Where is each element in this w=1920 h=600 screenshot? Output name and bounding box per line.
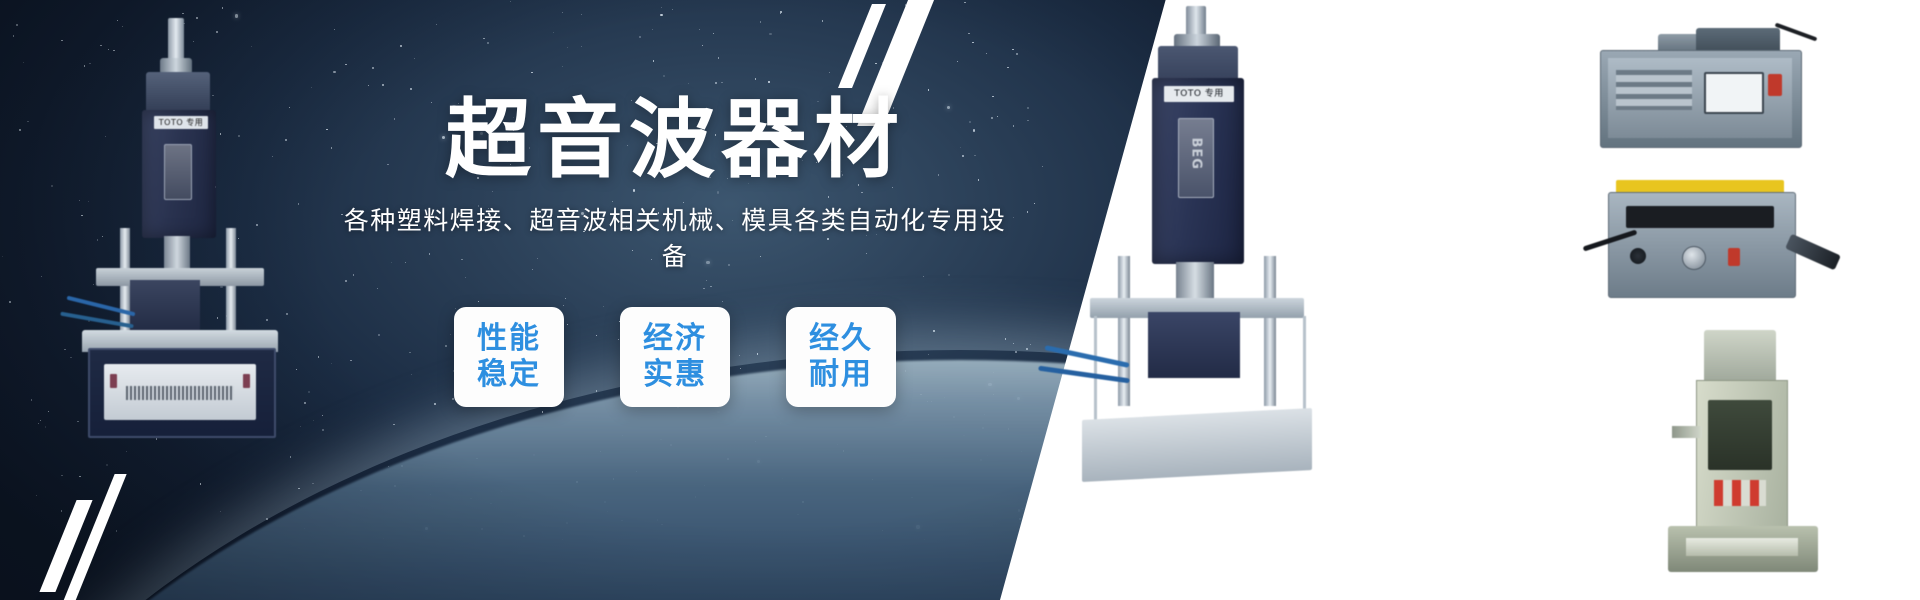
banner-subline: 各种塑料焊接、超音波相关机械、模具各类自动化专用设备 [335, 201, 1015, 273]
welding-unit-product-image [1600, 180, 1830, 320]
unit-jack-port [1630, 248, 1646, 264]
unit-control-knob [1682, 246, 1706, 270]
welder-screen: BEG [1178, 118, 1214, 198]
promo-banner: TOTO 专用 超音波器材 各种塑料焊接、超音波相关机械、模具各类自动化专用设备… [0, 0, 1920, 600]
welder-fixture-box [1148, 312, 1240, 378]
badge-line-2: 耐用 [809, 357, 873, 394]
generator-analog-meter [1704, 72, 1764, 114]
feature-badge-economy[interactable]: 经济 实惠 [620, 307, 730, 407]
machine-indicator-left [110, 374, 117, 388]
tall-machine-product-image [1660, 330, 1840, 600]
machine-fixture-box [130, 280, 200, 332]
tall-machine-buttons [1714, 480, 1766, 506]
machine-indicator-right [243, 374, 250, 388]
generator-product-image [1600, 28, 1820, 158]
generator-power-switch [1768, 74, 1782, 96]
main-welder-product-image: TOTO 专用 BEG [1078, 6, 1318, 506]
tall-machine-arm [1672, 426, 1702, 438]
unit-slot [1626, 206, 1774, 228]
machine-neck [164, 236, 190, 270]
badge-line-1: 经济 [643, 321, 707, 358]
tall-machine-display [1708, 400, 1772, 470]
badge-line-2: 稳定 [477, 357, 541, 394]
badge-line-1: 性能 [477, 321, 541, 358]
generator-terminal-block [1616, 70, 1692, 110]
feature-badge-durability[interactable]: 经久 耐用 [786, 307, 896, 407]
machine-vent-grille [126, 386, 234, 400]
machine-rod [168, 18, 184, 62]
badge-line-1: 经久 [809, 321, 873, 358]
machine-brand-label: TOTO 专用 [154, 116, 208, 129]
welder-base [1082, 408, 1312, 482]
feature-badge-performance[interactable]: 性能 稳定 [454, 307, 564, 407]
machine-screen [164, 144, 192, 200]
unit-red-button [1728, 248, 1740, 266]
welder-brand-label: TOTO 专用 [1164, 86, 1234, 102]
badge-line-2: 实惠 [643, 357, 707, 394]
banner-copy-block: 超音波器材 各种塑料焊接、超音波相关机械、模具各类自动化专用设备 性能 稳定 经… [335, 96, 1015, 407]
banner-headline: 超音波器材 [335, 96, 1015, 185]
tall-machine-plate [1686, 538, 1798, 556]
left-product-machine-image: TOTO 专用 [60, 18, 310, 448]
welder-screen-text: BEG [1189, 138, 1204, 172]
feature-badge-group: 性能 稳定 经济 实惠 经久 耐用 [335, 307, 1015, 407]
